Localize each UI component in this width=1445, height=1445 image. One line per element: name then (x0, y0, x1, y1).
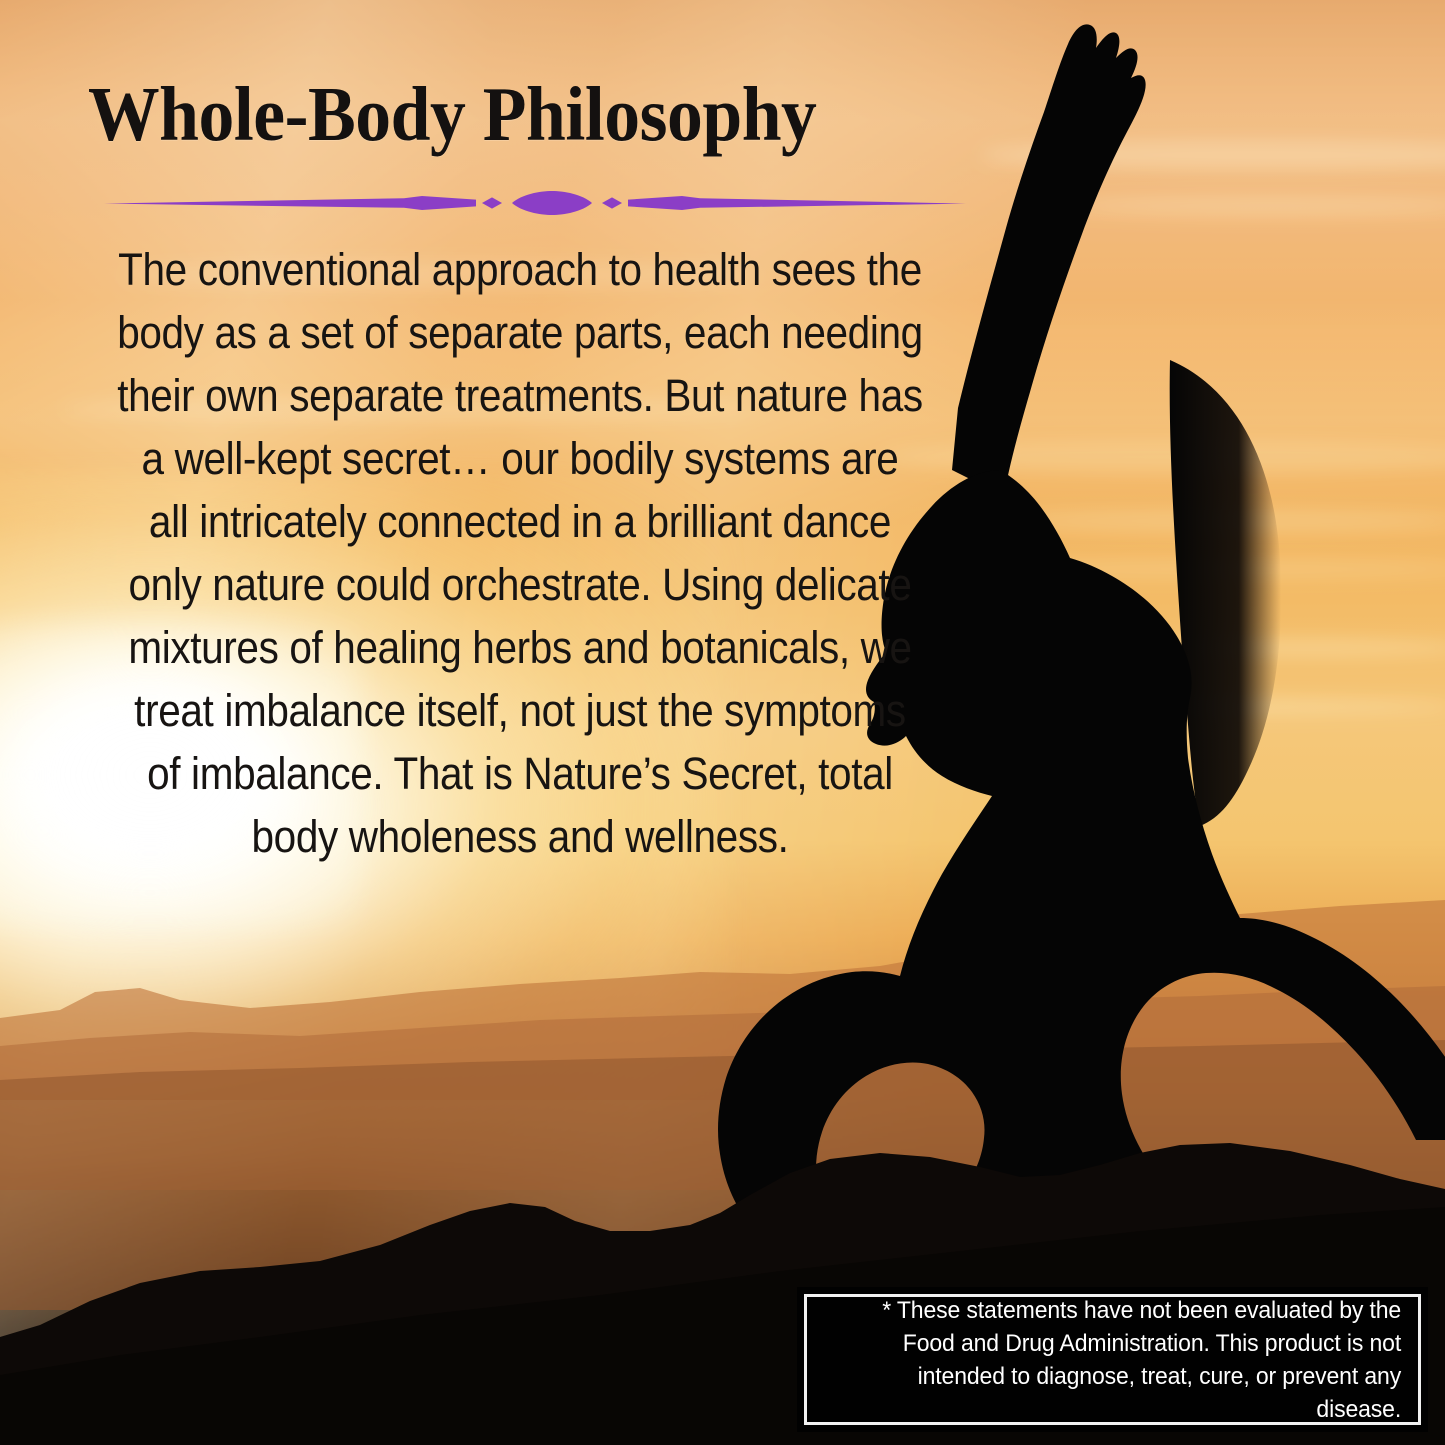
raised-arms-shape (952, 24, 1146, 496)
page-title: Whole-Body Philosophy (88, 76, 816, 153)
philosophy-paragraph: The conventional approach to health sees… (117, 238, 923, 868)
philosophy-panel: Whole-Body Philosophy The conventional a… (0, 0, 1445, 1445)
fda-disclaimer-border: * These statements have not been evaluat… (804, 1294, 1421, 1425)
fda-disclaimer-text: * These statements have not been evaluat… (844, 1294, 1418, 1426)
ornamental-flourish-divider-icon (104, 186, 966, 220)
fda-disclaimer-box: * These statements have not been evaluat… (797, 1287, 1428, 1432)
